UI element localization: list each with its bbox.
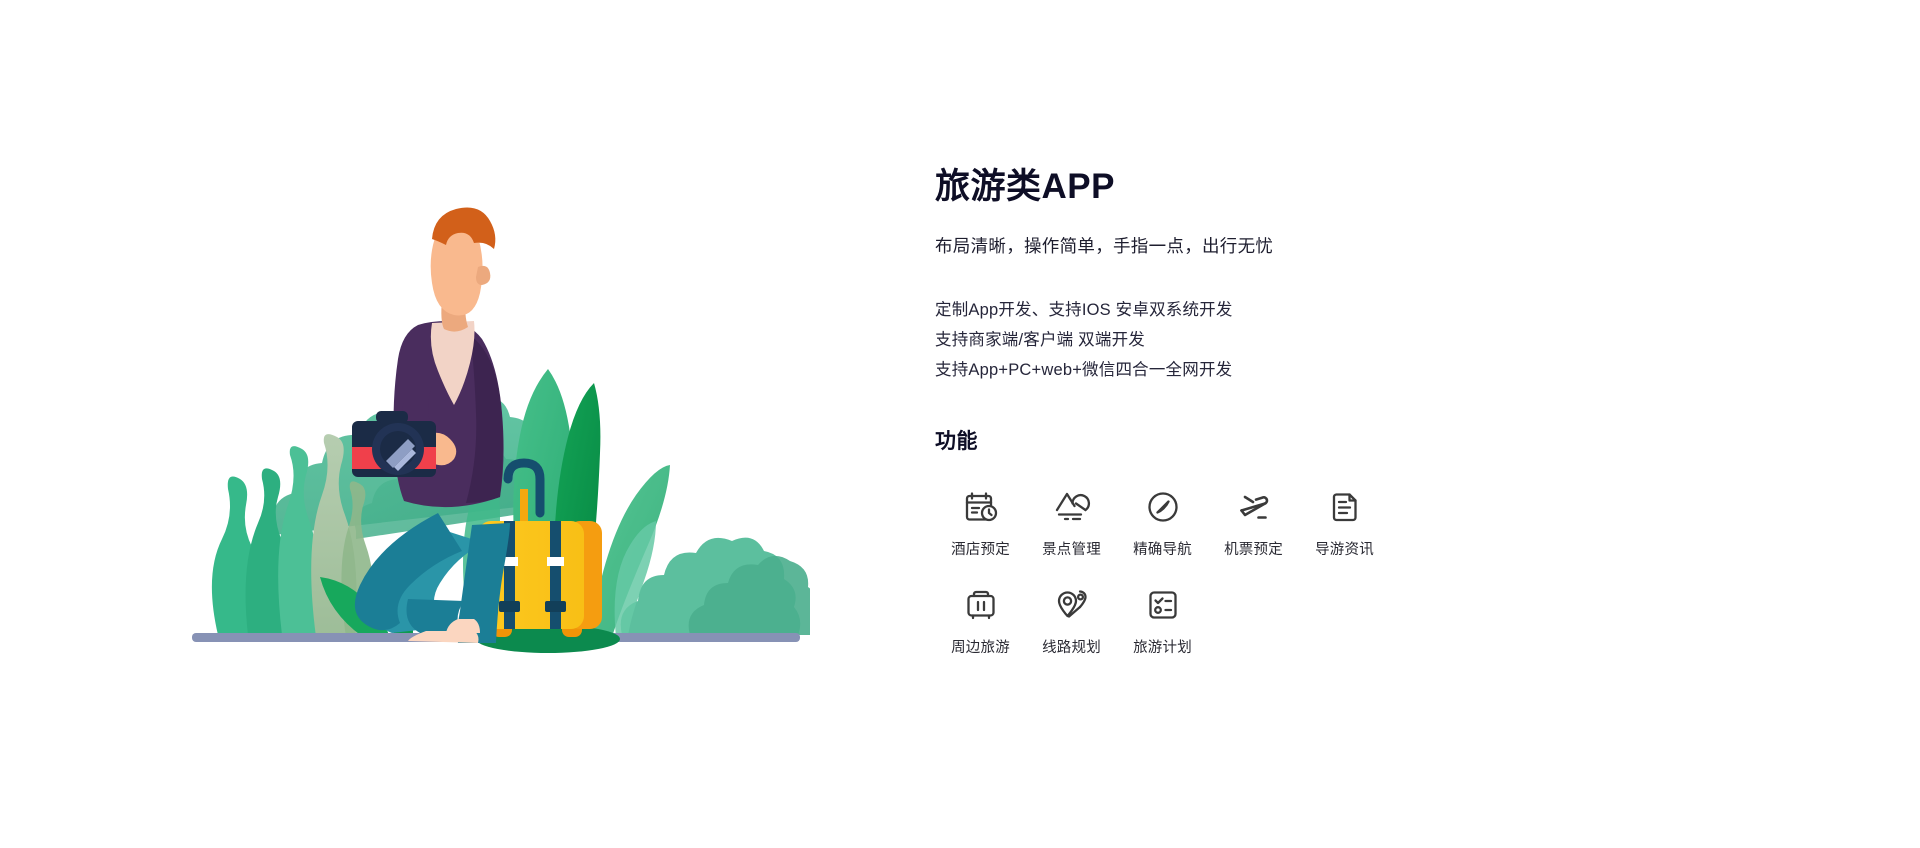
- feature-row-2: 周边旅游 线路规划: [935, 573, 1405, 657]
- feature-item-route-planning[interactable]: 线路规划: [1026, 573, 1117, 657]
- traveler-with-suitcase-illustration: [170, 195, 810, 655]
- feature-grid: 酒店预定 景点管理: [935, 475, 1405, 657]
- description-line-3: 支持App+PC+web+微信四合一全网开发: [935, 355, 1920, 385]
- feature-label: 机票预定: [1224, 538, 1283, 559]
- features-heading: 功能: [935, 425, 1920, 455]
- document-lines-icon: [1323, 485, 1367, 529]
- compass-icon: [1141, 485, 1185, 529]
- description-block: 定制App开发、支持IOS 安卓双系统开发 支持商家端/客户端 双端开发 支持A…: [935, 295, 1920, 385]
- feature-item-nearby-travel[interactable]: 周边旅游: [935, 573, 1026, 657]
- feature-label: 酒店预定: [951, 538, 1010, 559]
- feature-label: 旅游计划: [1133, 636, 1192, 657]
- feature-item-hotel-booking[interactable]: 酒店预定: [935, 475, 1026, 559]
- description-line-1: 定制App开发、支持IOS 安卓双系统开发: [935, 295, 1920, 325]
- airplane-takeoff-icon: [1232, 485, 1276, 529]
- map-pins-route-icon: [1050, 583, 1094, 627]
- feature-label: 周边旅游: [951, 636, 1010, 657]
- illustration-pane: [0, 0, 960, 848]
- feature-item-attraction-management[interactable]: 景点管理: [1026, 475, 1117, 559]
- feature-label: 精确导航: [1133, 538, 1192, 559]
- mountain-landscape-icon: [1050, 485, 1094, 529]
- suitcase-icon: [959, 583, 1003, 627]
- feature-label: 景点管理: [1042, 538, 1101, 559]
- page-subtitle: 布局清晰，操作简单，手指一点，出行无忧: [935, 233, 1920, 258]
- bush-cluster-right: [615, 521, 810, 637]
- page-root: 旅游类APP 布局清晰，操作简单，手指一点，出行无忧 定制App开发、支持IOS…: [0, 0, 1920, 848]
- feature-label: 导游资讯: [1315, 538, 1374, 559]
- content-pane: 旅游类APP 布局清晰，操作简单，手指一点，出行无忧 定制App开发、支持IOS…: [935, 0, 1920, 848]
- feature-item-travel-plan[interactable]: 旅游计划: [1117, 573, 1208, 657]
- feature-item-guide-info[interactable]: 导游资讯: [1299, 475, 1390, 559]
- feature-label: 线路规划: [1042, 636, 1101, 657]
- calendar-clock-icon: [959, 485, 1003, 529]
- feature-item-flight-booking[interactable]: 机票预定: [1208, 475, 1299, 559]
- page-title: 旅游类APP: [935, 168, 1920, 207]
- description-line-2: 支持商家端/客户端 双端开发: [935, 325, 1920, 355]
- feature-item-navigation[interactable]: 精确导航: [1117, 475, 1208, 559]
- checklist-icon: [1141, 583, 1185, 627]
- feature-row-1: 酒店预定 景点管理: [935, 475, 1405, 559]
